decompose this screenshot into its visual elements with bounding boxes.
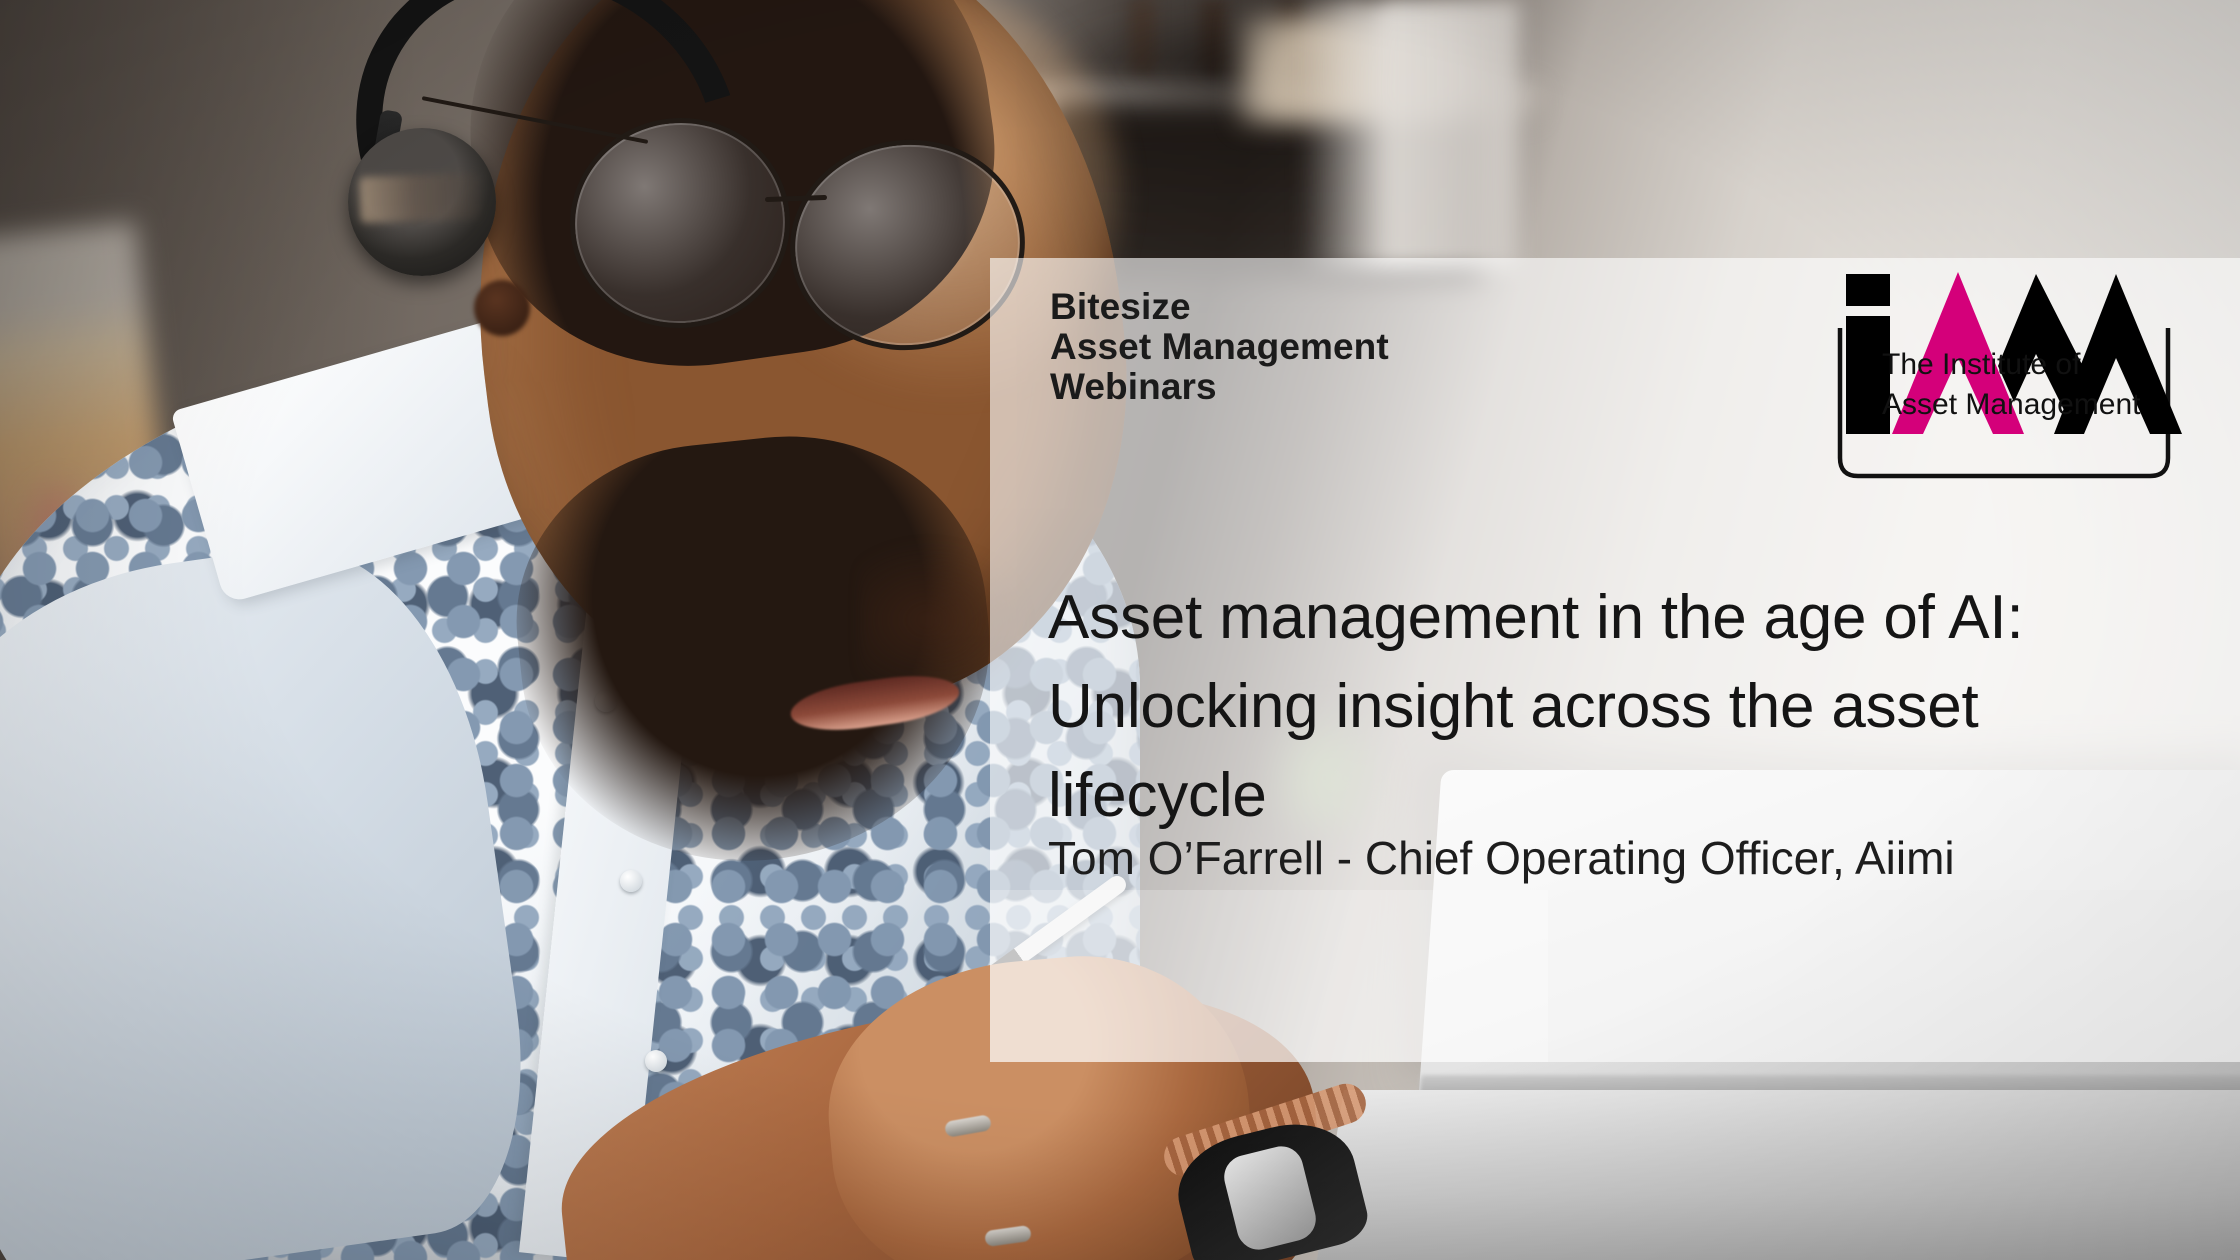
ear bbox=[474, 280, 530, 336]
logo-line-2: Asset Management bbox=[1882, 388, 2141, 421]
shirt-button bbox=[620, 870, 642, 892]
series-kicker: Bitesize Asset Management Webinars bbox=[1050, 287, 1389, 407]
webinar-title-slide: Bitesize Asset Management Webinars Asset… bbox=[0, 0, 2240, 1260]
iam-logo: The Institute of Asset Management bbox=[1818, 262, 2190, 484]
logo-line-1: The Institute of bbox=[1882, 348, 2081, 381]
slide-title: Asset management in the age of AI: Unloc… bbox=[1048, 573, 2108, 840]
speaker-byline: Tom O’Farrell - Chief Operating Officer,… bbox=[1048, 830, 2148, 886]
shirt-button bbox=[645, 1050, 667, 1072]
overlay-panel-lower-narrow bbox=[990, 890, 1548, 1062]
logo-i-dot bbox=[1846, 274, 1890, 306]
headset-earcup-reflection bbox=[359, 173, 481, 223]
